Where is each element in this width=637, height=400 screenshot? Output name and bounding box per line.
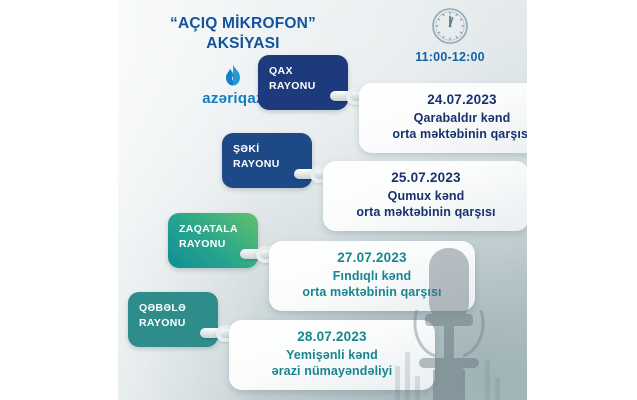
flame-icon (223, 64, 243, 88)
poster-title-line1: “AÇIQ MİKROFON” (170, 15, 316, 32)
event-place-line1: Qumux kənd (333, 188, 519, 204)
event-place-line2: orta məktəbinin qarşısı (369, 126, 527, 142)
schedule-time: 11:00-12:00 (390, 6, 510, 64)
time-label: 11:00-12:00 (390, 50, 510, 64)
poster-title: “AÇIQ MİKROFON” AKSİYASI (128, 14, 358, 54)
campaign-poster: “AÇIQ MİKROFON” AKSİYASI azəriqaz (118, 0, 527, 400)
event-card[interactable]: 24.07.2023 Qarabaldır kənd orta məktəbin… (359, 83, 527, 153)
event-date: 25.07.2023 (333, 170, 519, 185)
district-badge-line1: ZAQATALA (179, 222, 258, 237)
district-badge-line1: ŞƏKİ (233, 142, 312, 157)
event-place-line1: Qarabaldır kənd (369, 110, 527, 126)
event-card[interactable]: 25.07.2023 Qumux kənd orta məktəbinin qa… (323, 161, 527, 231)
clock-icon (390, 6, 510, 46)
poster-title-line2: AKSİYASI (206, 35, 279, 52)
event-place-line2: orta məktəbinin qarşısı (333, 204, 519, 220)
event-date: 24.07.2023 (369, 92, 527, 107)
district-badge-line1: QƏBƏLƏ (139, 301, 218, 316)
microphone-icon (389, 226, 509, 400)
district-badge-line1: QAX (269, 64, 348, 79)
